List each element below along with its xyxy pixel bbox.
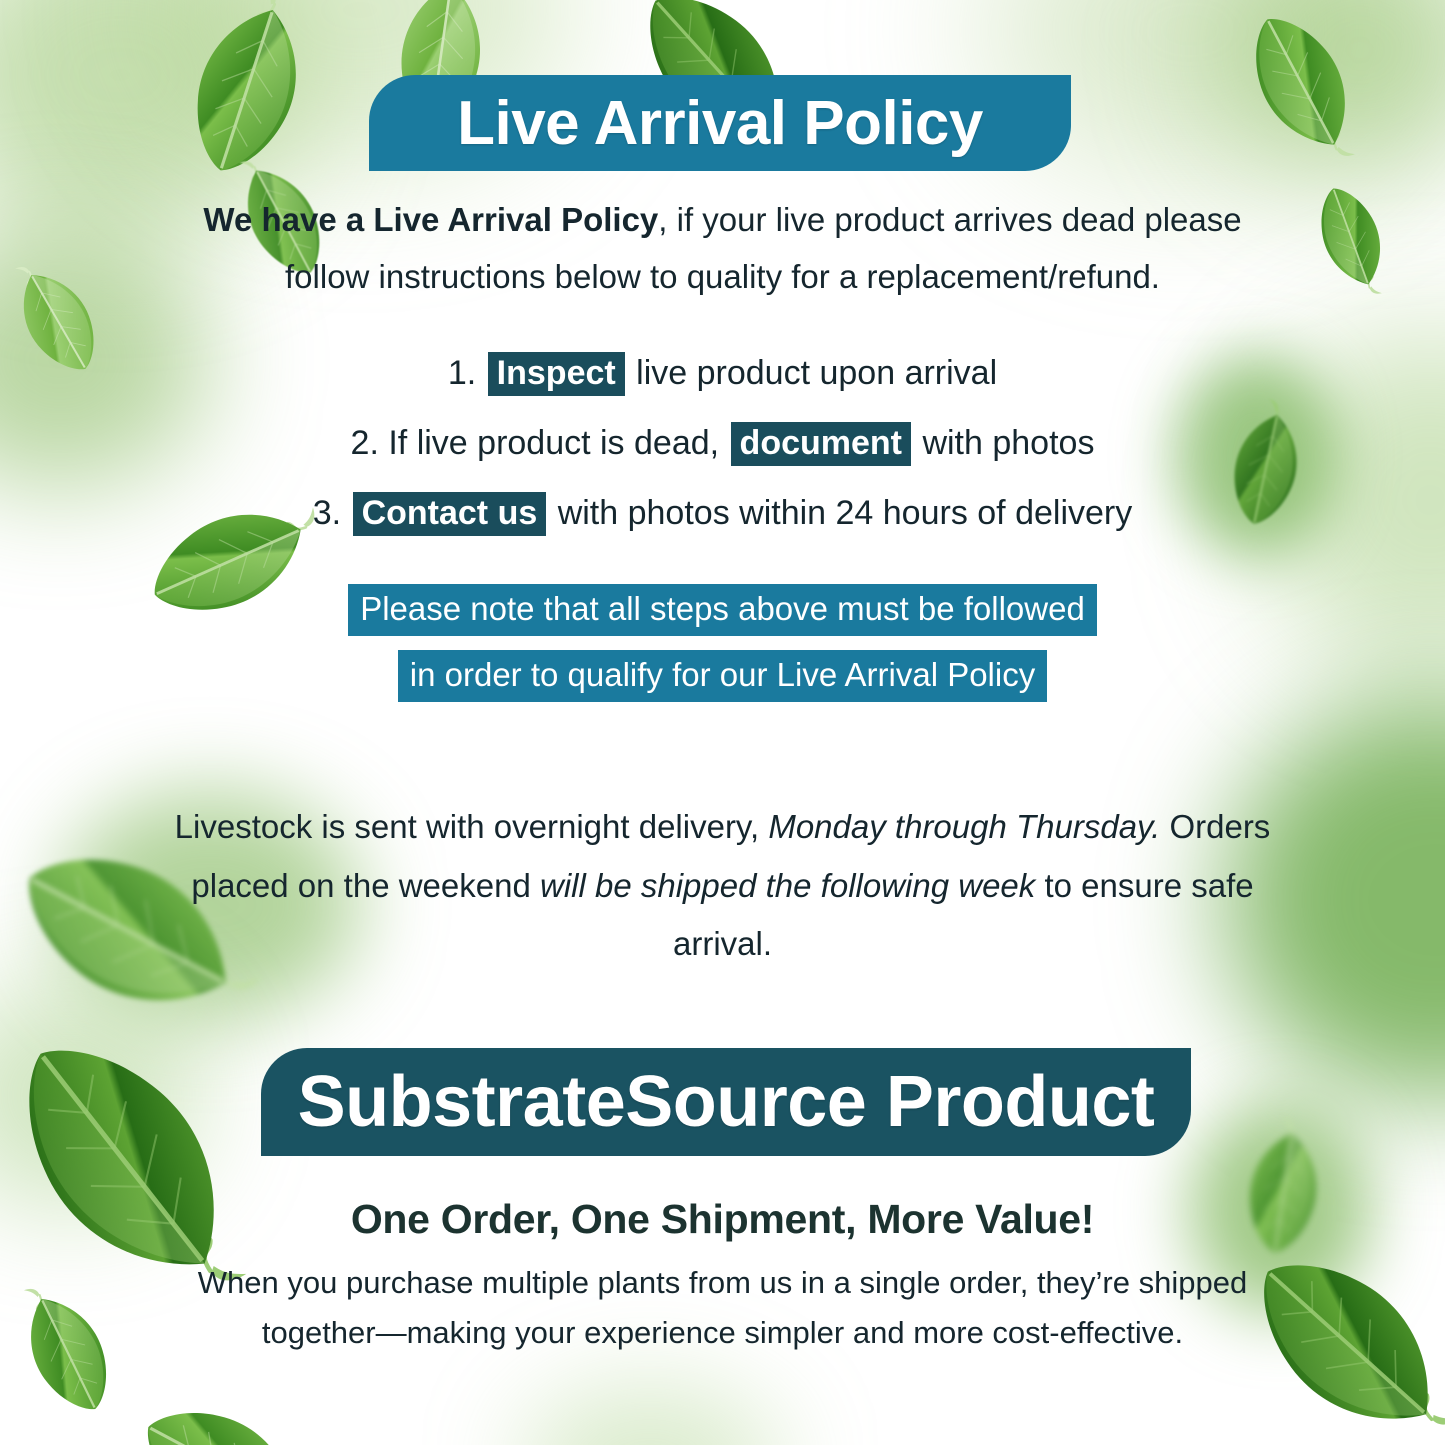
step-number: 2. xyxy=(351,424,379,462)
livestock-seg-4-italic: will be shipped the following week xyxy=(540,867,1035,904)
step-highlight-contact-us: Contact us xyxy=(353,492,547,536)
livestock-seg-1: Livestock is sent with overnight deliver… xyxy=(175,808,769,845)
livestock-seg-2-italic: Monday through Thursday. xyxy=(768,808,1160,845)
step-text-after: live product upon arrival xyxy=(627,354,997,392)
live-arrival-policy-banner: Live Arrival Policy xyxy=(369,75,1071,171)
note-line-2-wrap: in order to qualify for our Live Arrival… xyxy=(160,650,1285,702)
step-text-before xyxy=(341,494,350,532)
livestock-shipping-paragraph: Livestock is sent with overnight deliver… xyxy=(160,798,1285,974)
value-heading: One Order, One Shipment, More Value! xyxy=(160,1196,1285,1243)
step-text-after: with photos xyxy=(913,424,1094,462)
step-number: 3. xyxy=(313,494,341,532)
substratesource-product-banner: SubstrateSource Product xyxy=(261,1048,1191,1156)
please-note-block: Please note that all steps above must be… xyxy=(160,584,1285,716)
intro-paragraph: We have a Live Arrival Policy, if your l… xyxy=(160,192,1285,306)
list-item: 3. Contact us with photos within 24 hour… xyxy=(160,492,1285,536)
list-item: 1. Inspect live product upon arrival xyxy=(160,352,1285,396)
step-text-before: If live product is dead, xyxy=(379,424,729,462)
note-line-1-wrap: Please note that all steps above must be… xyxy=(160,584,1285,636)
step-highlight-inspect: Inspect xyxy=(488,352,625,396)
step-highlight-document: document xyxy=(731,422,911,466)
note-line-2: in order to qualify for our Live Arrival… xyxy=(398,650,1047,702)
note-line-1: Please note that all steps above must be… xyxy=(348,584,1097,636)
step-number: 1. xyxy=(448,354,476,392)
intro-lead-bold: We have a Live Arrival Policy xyxy=(203,201,658,238)
value-body-paragraph: When you purchase multiple plants from u… xyxy=(160,1258,1285,1358)
policy-document: Live Arrival Policy We have a Live Arriv… xyxy=(0,0,1445,1445)
steps-list: 1. Inspect live product upon arrival 2. … xyxy=(160,352,1285,562)
list-item: 2. If live product is dead, document wit… xyxy=(160,422,1285,466)
step-text-after: with photos within 24 hours of delivery xyxy=(548,494,1132,532)
